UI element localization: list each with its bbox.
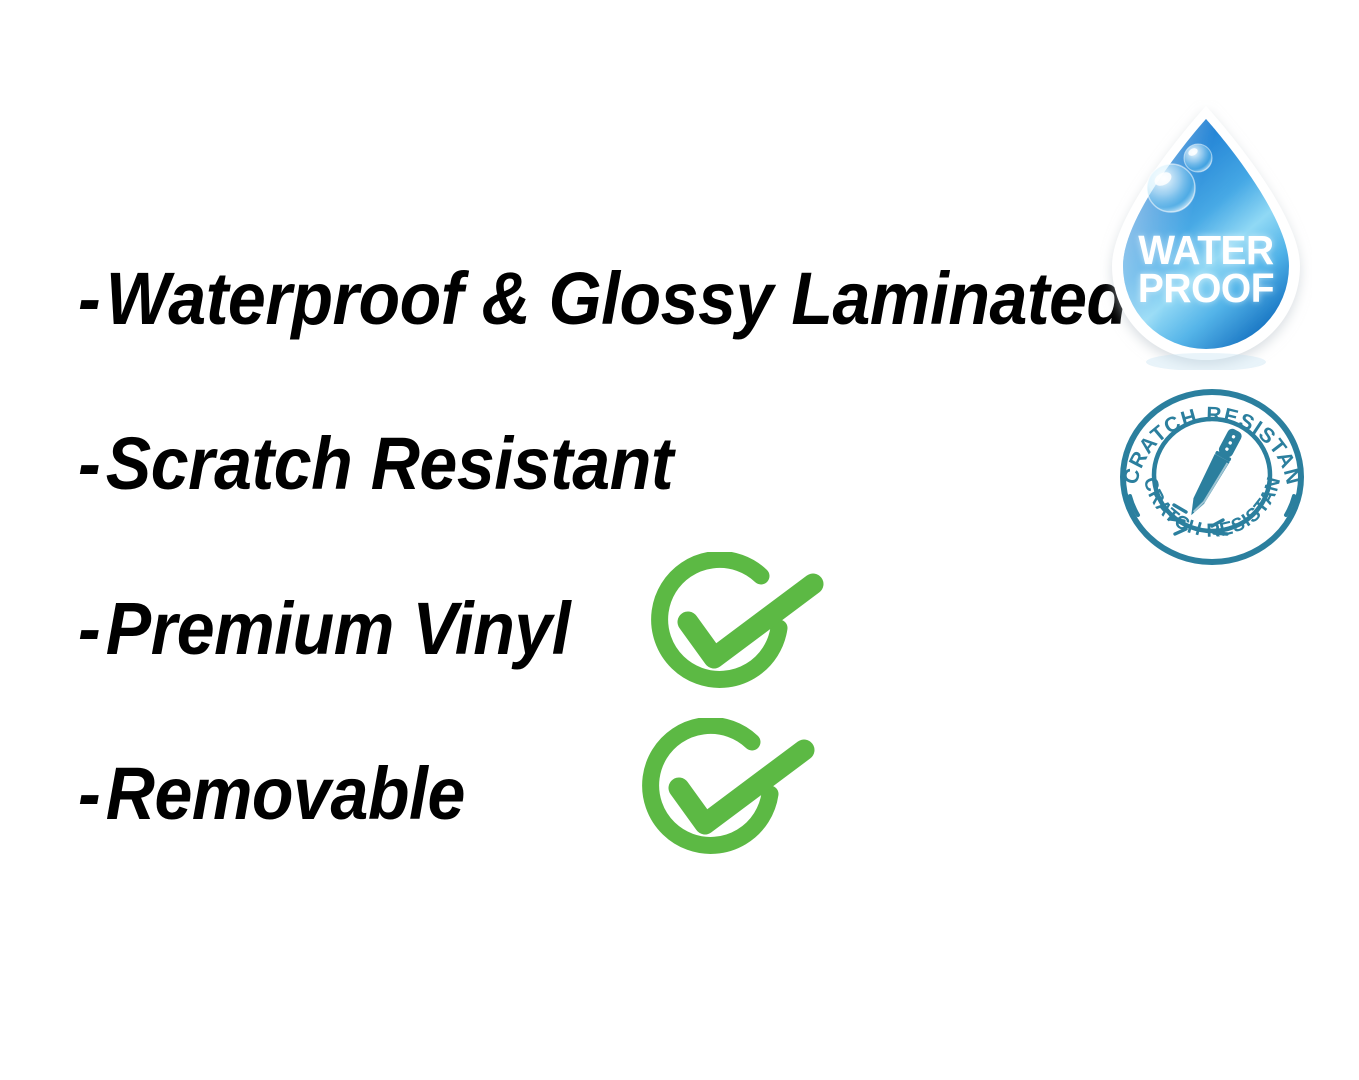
feature-label: Premium Vinyl <box>106 587 570 670</box>
check-circle-icon <box>641 552 831 712</box>
feature-label: Scratch Resistant <box>106 422 673 505</box>
feature-dash: - <box>78 757 100 831</box>
waterproof-badge: WATER PROOF <box>1100 100 1312 370</box>
check-circle-premium-vinyl <box>641 552 831 712</box>
feature-line-premium-vinyl: -Premium Vinyl <box>78 592 570 666</box>
knife-icon <box>1184 427 1244 520</box>
feature-label: Waterproof & Glossy Laminated <box>106 257 1128 340</box>
scratch-resistant-stamp-icon: SCRATCH RESISTANT SCRATCH RESISTANT <box>1112 384 1312 569</box>
check-circle-icon <box>632 718 822 878</box>
feature-dash: - <box>78 427 100 501</box>
feature-label: Removable <box>106 752 465 835</box>
scratch-resistant-badge: SCRATCH RESISTANT SCRATCH RESISTANT <box>1112 384 1312 569</box>
feature-line-waterproof: -Waterproof & Glossy Laminated <box>78 262 1128 336</box>
check-circle-removable <box>632 718 822 878</box>
check-stroke <box>688 584 813 658</box>
droplet-body <box>1112 106 1300 360</box>
feature-dash: - <box>78 592 100 666</box>
feature-line-removable: -Removable <box>78 757 465 831</box>
feature-dash: - <box>78 262 100 336</box>
check-stroke <box>679 750 804 824</box>
feature-graphic-canvas: -Waterproof & Glossy Laminated -Scratch … <box>0 0 1359 1080</box>
droplet-reflection <box>1146 353 1266 370</box>
feature-line-scratch-resistant: -Scratch Resistant <box>78 427 673 501</box>
water-droplet-icon <box>1100 100 1312 370</box>
